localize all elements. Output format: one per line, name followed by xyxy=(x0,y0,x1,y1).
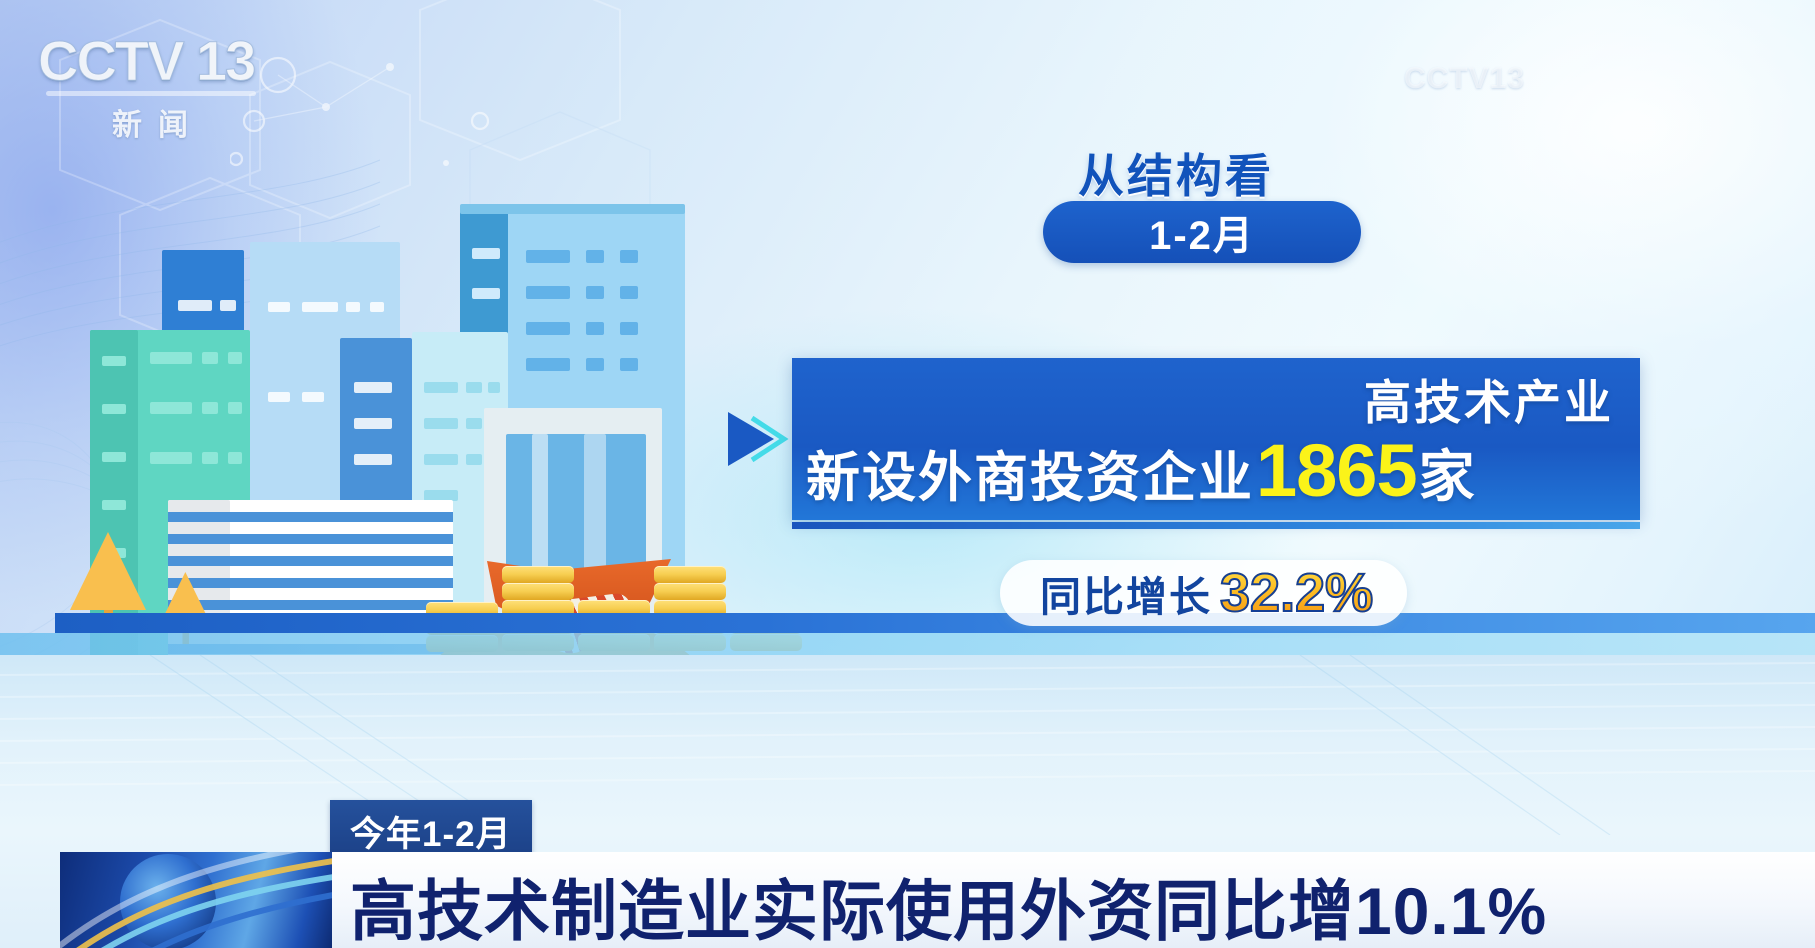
banner-line-2-prefix: 新设外商投资企业 xyxy=(806,433,1254,512)
banner-underline xyxy=(792,522,1640,529)
ticker-logo-streaks xyxy=(60,852,332,948)
ticker-logo xyxy=(60,852,332,948)
building-glass-panel xyxy=(506,434,646,574)
cctv13-logo-subtitle: 新闻 xyxy=(38,100,268,144)
period-pill: 1-2月 xyxy=(1043,201,1361,263)
cctv13-logo-text: CCTV 13 xyxy=(38,33,268,89)
arrow-pointer-icon xyxy=(722,408,792,470)
infographic-banner: 高技术产业 新设外商投资企业 1865 家 xyxy=(792,358,1640,520)
growth-pill: 同比增长 32.2% xyxy=(1000,560,1407,626)
banner-line-1: 高技术产业 xyxy=(1364,364,1614,433)
lower-band-stripes xyxy=(0,655,1815,835)
channel-watermark: CCTV13 xyxy=(1404,62,1525,96)
cctv13-logo: CCTV 13 新闻 xyxy=(38,33,268,143)
growth-label: 同比增长 xyxy=(1040,563,1212,623)
ground-bar-dark xyxy=(55,613,1815,633)
banner-value: 1865 xyxy=(1256,438,1417,505)
city-illustration xyxy=(40,160,760,660)
lower-third-headline: 高技术制造业实际使用外资同比增10.1% xyxy=(350,858,1547,948)
infographic-kicker: 从结构看 xyxy=(1078,140,1274,206)
building-glass-highlight-2 xyxy=(584,434,606,574)
ground-bar-light xyxy=(0,633,1815,655)
growth-value: 32.2% xyxy=(1220,562,1373,624)
building-roof-cap xyxy=(460,204,685,214)
broadcast-screen: CCTV 13 新闻 CCTV13 xyxy=(0,0,1815,948)
building-glass-highlight xyxy=(532,434,548,574)
lower-third-tag-label: 今年1-2月 xyxy=(350,815,512,854)
period-pill-label: 1-2月 xyxy=(1149,203,1255,261)
banner-unit: 家 xyxy=(1419,432,1475,513)
banner-line-2: 新设外商投资企业 1865 家 xyxy=(806,432,1475,513)
